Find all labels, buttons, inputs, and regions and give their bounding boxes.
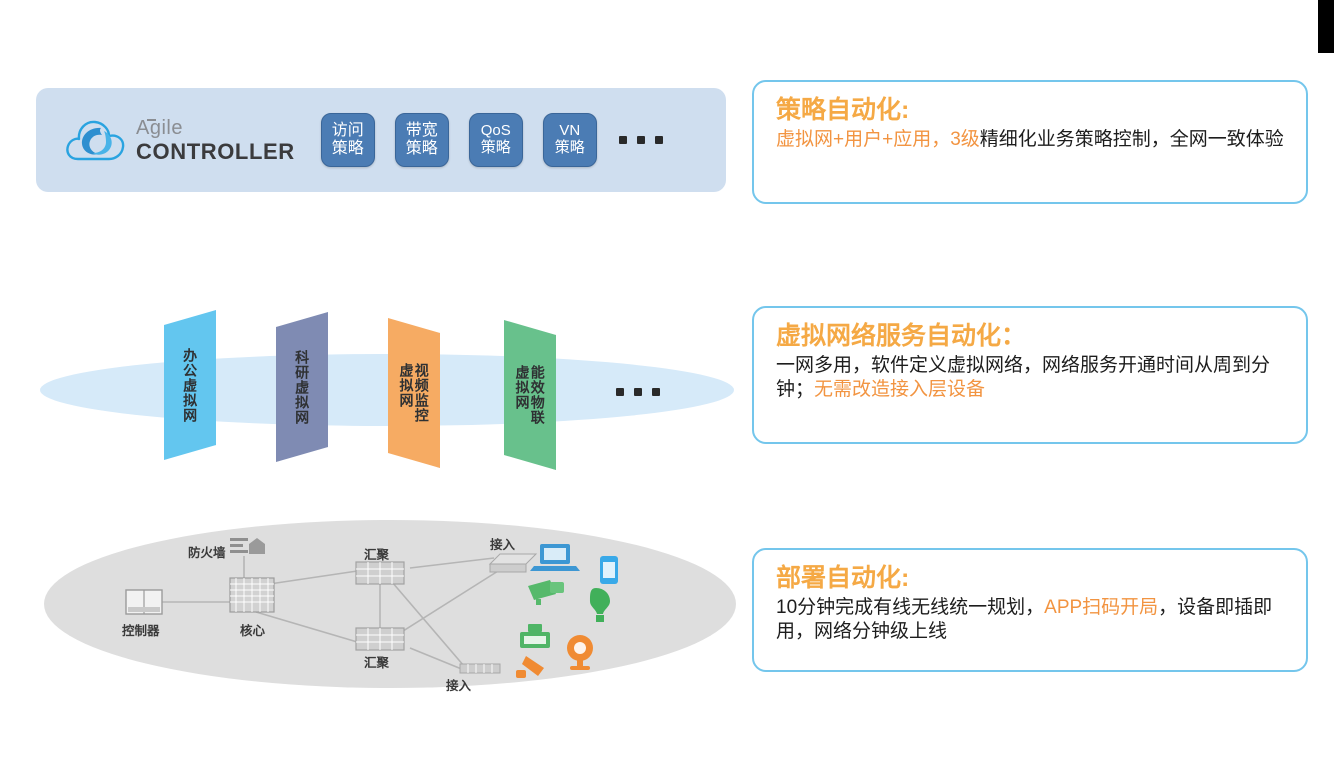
slab-label: 科研虚拟网 (295, 350, 309, 425)
controller-device-icon (126, 590, 162, 614)
panel-highlight-text: 无需改造接入层设备 (814, 379, 985, 400)
panel-title: 部署自动化: (776, 564, 1286, 594)
brand-controller: CONTROLLER (136, 141, 295, 163)
policy-chip-access[interactable]: 访问 策略 (321, 113, 375, 167)
policy-chip-qos[interactable]: QoS 策略 (469, 113, 523, 167)
topology-label-access-1: 接入 (490, 534, 515, 553)
panel-body: 10分钟完成有线无线统一规划，APP扫码开局，设备即插即用，网络分钟级上线 (776, 596, 1286, 645)
slab-label: 办公虚拟网 (183, 348, 197, 423)
topology-links-and-devices (44, 520, 736, 688)
slab-label-col-1: 办公虚拟网 (183, 348, 197, 423)
chip-line-2: 策略 (406, 140, 438, 158)
panel-body: 一网多用，软件定义虚拟网络，网络服务开通时间从周到分钟；无需改造接入层设备 (776, 354, 1286, 403)
virtual-network-diagram: 办公虚拟网 科研虚拟网 视频监控 虚拟网 能效物联 虚拟网 (36, 296, 736, 496)
camera-icon (567, 635, 593, 670)
deployment-automation-panel: 部署自动化: 10分钟完成有线无线统一规划，APP扫码开局，设备即插即用，网络分… (752, 548, 1308, 672)
slab-label-col-1: 科研虚拟网 (295, 350, 309, 425)
brand-agile: Agile (136, 118, 183, 138)
corner-black-bar (1318, 0, 1334, 53)
agile-controller-band: Agile CONTROLLER 访问 策略 带宽 策略 QoS 策略 VN 策… (36, 88, 726, 192)
slab-label-col-1: 视频监控 (415, 363, 429, 423)
slab-label-col-2: 虚拟网 (399, 363, 413, 423)
agile-controller-logo: Agile CONTROLLER (64, 115, 295, 165)
slab-label-col-2: 虚拟网 (515, 365, 529, 425)
sensor-icon (516, 656, 544, 678)
panel-plain-text: 精细化业务策略控制，全网一致体验 (980, 129, 1284, 150)
agile-controller-wordmark: Agile CONTROLLER (136, 118, 295, 163)
panel-body: 虚拟网+用户+应用，3级精细化业务策略控制，全网一致体验 (776, 128, 1286, 153)
chip-line-2: 策略 (481, 140, 511, 157)
network-topology-diagram: 控制器 防火墙 核心 汇聚 汇聚 接入 接入 (44, 520, 736, 688)
chip-line-1: QoS (481, 123, 511, 140)
slab-label-col-1: 能效物联 (531, 365, 545, 425)
topology-label-aggregation-1: 汇聚 (364, 544, 389, 563)
policy-chip-bandwidth[interactable]: 带宽 策略 (395, 113, 449, 167)
policy-chip-vn[interactable]: VN 策略 (543, 113, 597, 167)
vn-slab-iot-energy: 能效物联 虚拟网 (504, 320, 556, 470)
vn-slab-office: 办公虚拟网 (164, 310, 216, 460)
chip-line-2: 策略 (332, 140, 364, 158)
slide-canvas: Agile CONTROLLER 访问 策略 带宽 策略 QoS 策略 VN 策… (0, 0, 1334, 783)
chip-line-1: 访问 (332, 122, 364, 140)
panel-highlight-text: APP扫码开局 (1044, 597, 1158, 618)
vn-slab-video: 视频监控 虚拟网 (388, 318, 440, 468)
tablet-icon (600, 556, 618, 584)
policy-automation-panel: 策略自动化: 虚拟网+用户+应用，3级精细化业务策略控制，全网一致体验 (752, 80, 1308, 204)
vn-slab-research: 科研虚拟网 (276, 312, 328, 462)
vn-more-ellipsis (616, 388, 670, 396)
panel-title: 策略自动化: (776, 96, 1286, 126)
topology-label-aggregation-2: 汇聚 (364, 652, 389, 671)
chip-line-1: VN (559, 123, 580, 140)
topology-label-core: 核心 (240, 620, 265, 639)
firewall-device-icon (230, 538, 265, 554)
panel-plain-text-1: 10分钟完成有线无线统一规划， (776, 597, 1044, 618)
aggregation-switch-1-icon (356, 562, 404, 584)
projector-icon (528, 580, 564, 605)
panel-title: 虚拟网络服务自动化： (776, 322, 1286, 352)
laptop-icon (530, 544, 580, 571)
access-switch-2-icon (460, 664, 500, 673)
slab-label: 能效物联 虚拟网 (515, 365, 545, 425)
topology-links (162, 556, 506, 670)
cloud-swirl-icon (64, 115, 126, 165)
bulb-icon (590, 588, 610, 622)
policy-chip-more-ellipsis (619, 136, 673, 144)
virtual-network-service-automation-panel: 虚拟网络服务自动化： 一网多用，软件定义虚拟网络，网络服务开通时间从周到分钟；无… (752, 306, 1308, 444)
core-switch-device-icon (230, 578, 274, 612)
access-switch-1-icon (490, 554, 536, 572)
topology-label-firewall: 防火墙 (188, 542, 226, 561)
aggregation-switch-2-icon (356, 628, 404, 650)
chip-line-2: 策略 (555, 140, 585, 157)
topology-label-controller: 控制器 (122, 620, 160, 639)
panel-highlight-text: 虚拟网+用户+应用，3级 (776, 129, 980, 150)
printer-icon (520, 624, 550, 648)
topology-label-access-2: 接入 (446, 675, 471, 694)
slab-label: 视频监控 虚拟网 (399, 363, 429, 423)
chip-line-1: 带宽 (406, 122, 438, 140)
policy-chip-group: 访问 策略 带宽 策略 QoS 策略 VN 策略 (321, 113, 673, 167)
